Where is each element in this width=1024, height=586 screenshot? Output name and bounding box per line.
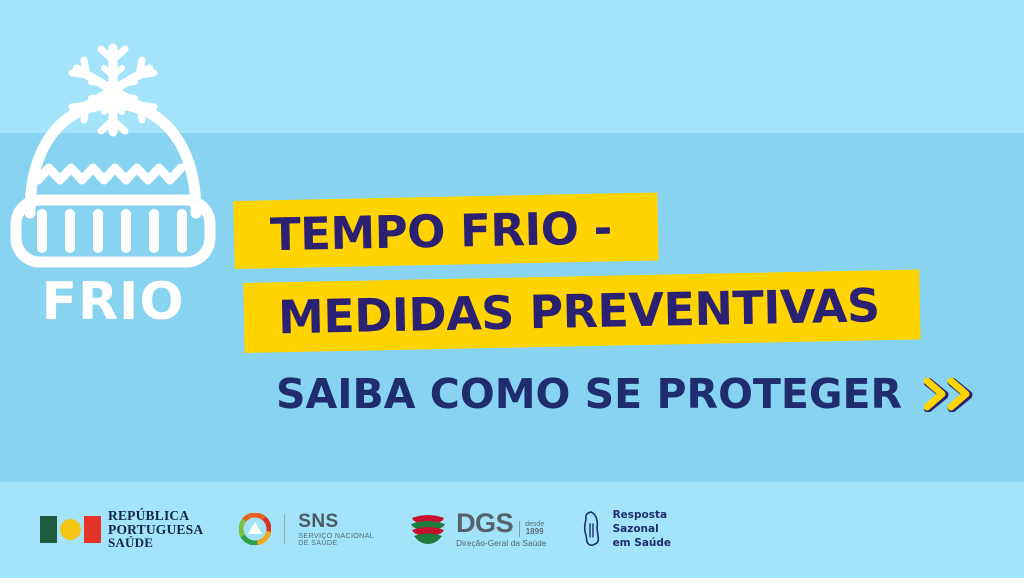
portugal-map-icon — [581, 510, 605, 548]
republica-portuguesa-text: REPÚBLICA PORTUGUESA SAÚDE — [108, 509, 203, 550]
headline-group: TEMPO FRIO - MEDIDAS PREVENTIVAS — [0, 0, 1024, 586]
resposta-sazonal-text: Resposta Sazonal em Saúde — [613, 508, 671, 551]
logo-sns: SNS SERVIÇO NACIONAL DE SAÚDE — [239, 512, 374, 547]
institutional-logo-row: REPÚBLICA PORTUGUESA SAÚDE SNS SERVIÇO N… — [40, 508, 671, 551]
logo-republica-portuguesa: REPÚBLICA PORTUGUESA SAÚDE — [40, 509, 203, 550]
rs-line1: Resposta — [613, 508, 671, 522]
rp-line2: PORTUGUESA — [108, 523, 203, 537]
dgs-shield-icon — [408, 512, 448, 546]
double-chevron-right-icon[interactable] — [924, 378, 976, 412]
rp-line1: REPÚBLICA — [108, 509, 203, 523]
sns-circle-icon — [239, 513, 271, 545]
headline-banner-line2: MEDIDAS PREVENTIVAS — [243, 269, 920, 353]
cta-label: SAIBA COMO SE PROTEGER — [276, 374, 902, 415]
dgs-since-badge: desde 1899 — [519, 521, 544, 537]
dgs-title: DGS — [456, 511, 513, 537]
logo-resposta-sazonal: Resposta Sazonal em Saúde — [581, 508, 671, 551]
sns-text: SNS SERVIÇO NACIONAL DE SAÚDE — [298, 512, 374, 547]
dgs-text: DGS desde 1899 Direção-Geral da Saúde — [456, 511, 547, 548]
logo-dgs: DGS desde 1899 Direção-Geral da Saúde — [408, 511, 547, 548]
headline-banner-line1: TEMPO FRIO - — [233, 192, 658, 268]
rp-line3: SAÚDE — [108, 536, 203, 549]
dgs-subtitle: Direção-Geral da Saúde — [456, 539, 547, 548]
sns-subtitle-line2: DE SAÚDE — [298, 539, 374, 547]
rs-line3: em Saúde — [613, 536, 671, 550]
cold-weather-awareness-banner: FRIO TEMPO FRIO - MEDIDAS PREVENTIVAS SA… — [0, 0, 1024, 586]
sns-title: SNS — [298, 512, 374, 532]
headline-line2-text: MEDIDAS PREVENTIVAS — [244, 282, 881, 341]
dgs-since-year: 1899 — [525, 528, 544, 536]
cta-row[interactable]: SAIBA COMO SE PROTEGER — [276, 374, 976, 415]
rs-line2: Sazonal — [613, 522, 671, 536]
republica-portuguesa-flag-icon — [40, 516, 101, 543]
headline-line1-text: TEMPO FRIO - — [234, 205, 613, 258]
sns-divider — [284, 514, 285, 544]
